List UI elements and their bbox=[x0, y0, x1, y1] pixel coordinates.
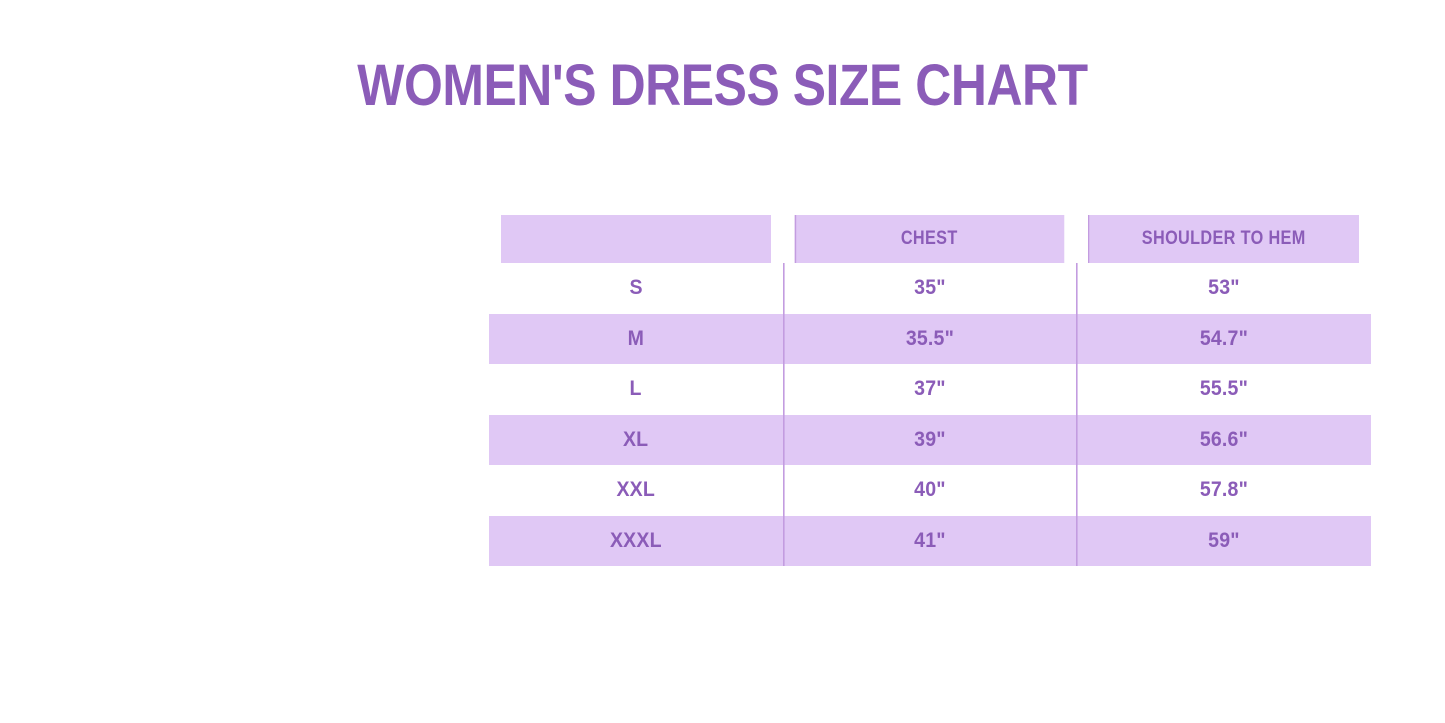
table-body: S 35" 53" M 35.5" 54.7" bbox=[489, 263, 1371, 566]
cell-shoulder-to-hem: 59" bbox=[1076, 516, 1371, 567]
cell-shoulder-to-hem: 55.5" bbox=[1076, 364, 1371, 415]
cell-shoulder-to-hem: 53" bbox=[1076, 263, 1371, 314]
cell-shoulder-to-hem: 56.6" bbox=[1076, 415, 1371, 466]
cell-chest: 41" bbox=[783, 516, 1076, 567]
cell-chest: 40" bbox=[783, 465, 1076, 516]
cell-size: XXL bbox=[489, 465, 783, 516]
cell-size: XXXL bbox=[489, 516, 783, 567]
cell-chest: 37" bbox=[783, 364, 1076, 415]
column-header-chest: CHEST bbox=[795, 215, 1065, 263]
cell-chest: 35" bbox=[783, 263, 1076, 314]
cell-size: M bbox=[489, 314, 783, 365]
cell-size: S bbox=[489, 263, 783, 314]
table-row: XXL 40" 57.8" bbox=[489, 465, 1371, 516]
table-row: M 35.5" 54.7" bbox=[489, 314, 1371, 365]
cell-size: L bbox=[489, 364, 783, 415]
table-row: S 35" 53" bbox=[489, 263, 1371, 314]
table-row: XL 39" 56.6" bbox=[489, 415, 1371, 466]
size-chart-container: CHEST SHOULDER TO HEM S 35" 53" bbox=[489, 215, 1371, 566]
cell-shoulder-to-hem: 54.7" bbox=[1076, 314, 1371, 365]
column-header-size bbox=[501, 215, 771, 263]
cell-shoulder-to-hem: 57.8" bbox=[1076, 465, 1371, 516]
cell-chest: 39" bbox=[783, 415, 1076, 466]
table-row: XXXL 41" 59" bbox=[489, 516, 1371, 567]
table-header-row: CHEST SHOULDER TO HEM bbox=[489, 215, 1371, 263]
table-header: CHEST SHOULDER TO HEM bbox=[489, 215, 1371, 263]
table-row: L 37" 55.5" bbox=[489, 364, 1371, 415]
column-header-shoulder-to-hem: SHOULDER TO HEM bbox=[1088, 215, 1359, 263]
cell-size: XL bbox=[489, 415, 783, 466]
size-chart-table: CHEST SHOULDER TO HEM S 35" 53" bbox=[489, 215, 1371, 566]
page-title: WOMEN'S DRESS SIZE CHART bbox=[101, 55, 1344, 117]
cell-chest: 35.5" bbox=[783, 314, 1076, 365]
